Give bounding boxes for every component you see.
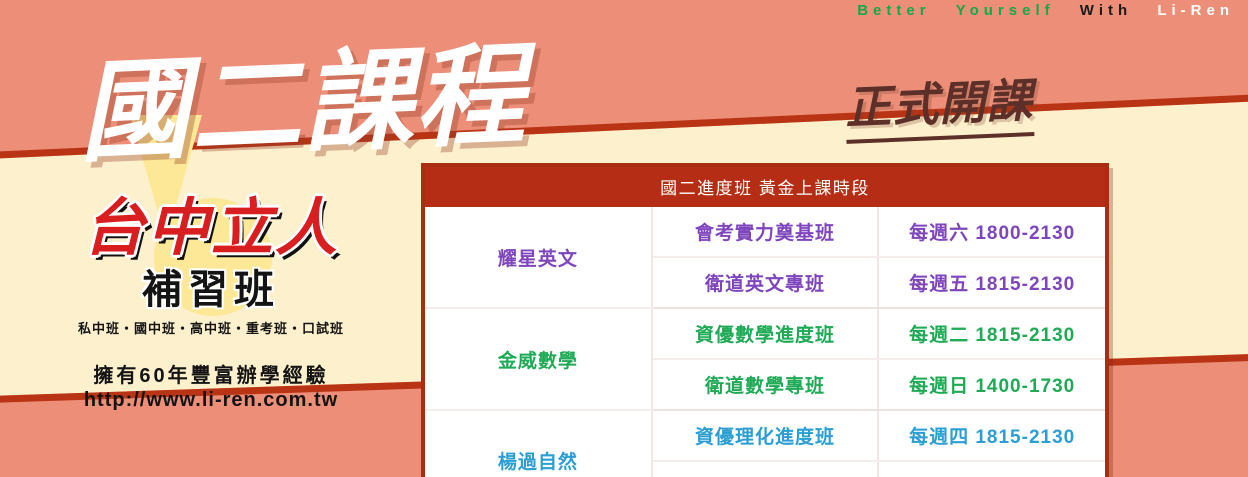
subject-cell-science: 楊過自然 — [425, 410, 652, 477]
logo-experience: 擁有60年豐富辦學經驗 — [46, 359, 376, 388]
logo-class-list: 私中班・國中班・高中班・重考班・口試班 — [46, 318, 376, 337]
course-cell: 會考實力奠基班 — [652, 207, 879, 257]
course-cell: 資優理化進度班 — [652, 410, 879, 461]
tagline-word-better: Better — [857, 2, 930, 19]
school-logo: 台中立人 補習班 私中班・國中班・高中班・重考班・口試班 擁有60年豐富辦學經驗… — [46, 196, 376, 412]
course-cell: 衛道自然專班 — [652, 461, 879, 477]
time-cell: 每週四 1815-2130 — [878, 410, 1105, 461]
time-cell: 每週日 1400-1730 — [878, 359, 1105, 410]
brand-tagline: Better Yourself With Li-Ren — [857, 2, 1234, 19]
promo-banner: Better Yourself With Li-Ren 國二課程 正式開課 台中… — [0, 0, 1248, 477]
subject-cell-math: 金威數學 — [425, 308, 652, 410]
logo-school-type: 補習班 — [46, 257, 376, 315]
table-row[interactable]: 楊過自然 資優理化進度班 每週四 1815-2130 — [425, 410, 1105, 461]
course-cell: 衛道英文專班 — [652, 257, 879, 308]
schedule-table: 國二進度班 黃金上課時段 耀星英文 會考實力奠基班 每週六 1800-2130 … — [425, 167, 1105, 477]
course-cell: 衛道數學專班 — [652, 359, 879, 410]
logo-website-url[interactable]: http://www.li-ren.com.tw — [46, 389, 376, 412]
schedule-table-container: 國二進度班 黃金上課時段 耀星英文 會考實力奠基班 每週六 1800-2130 … — [421, 163, 1109, 477]
subject-cell-english: 耀星英文 — [425, 207, 652, 308]
table-row[interactable]: 耀星英文 會考實力奠基班 每週六 1800-2130 — [425, 207, 1105, 257]
tagline-word-with: With — [1080, 2, 1132, 19]
time-cell: 每週二 1815-2130 — [878, 308, 1105, 359]
time-cell: 每週六 1800-2130 — [878, 207, 1105, 257]
course-cell: 資優數學進度班 — [652, 308, 879, 359]
headline-subtitle: 正式開課 — [844, 64, 1035, 144]
tagline-word-yourself: Yourself — [956, 2, 1055, 19]
table-row[interactable]: 金威數學 資優數學進度班 每週二 1815-2130 — [425, 308, 1105, 359]
page-title: 國二課程 — [75, 5, 529, 184]
logo-school-name: 台中立人 — [46, 196, 376, 259]
tagline-word-liren: Li-Ren — [1157, 2, 1234, 19]
schedule-table-body: 耀星英文 會考實力奠基班 每週六 1800-2130 衛道英文專班 每週五 18… — [425, 207, 1105, 477]
schedule-header-title: 國二進度班 黃金上課時段 — [425, 167, 1105, 207]
time-cell: 每週日 0900-1230 — [878, 461, 1105, 477]
table-header-row: 國二進度班 黃金上課時段 — [425, 167, 1105, 207]
time-cell: 每週五 1815-2130 — [878, 257, 1105, 308]
